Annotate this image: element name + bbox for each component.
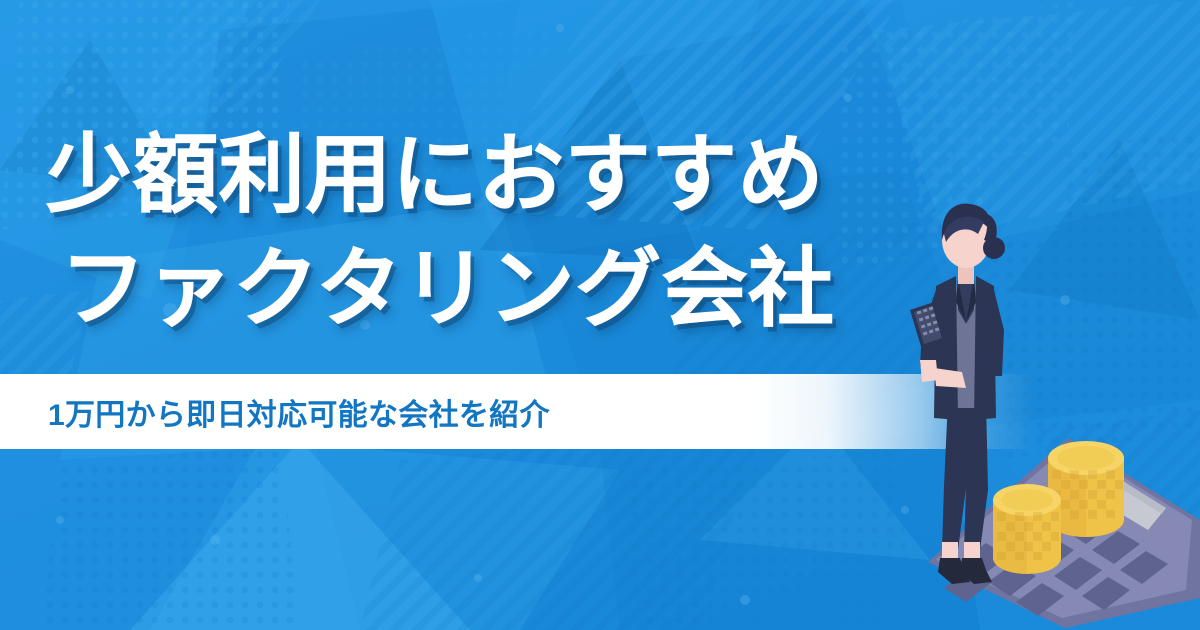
subtitle-bar: 1万円から即日対応可能な会社を紹介 (0, 374, 1035, 449)
banner-root: 少額利用におすすめ ファクタリング会社 1万円から即日対応可能な会社を紹介 (0, 0, 1200, 630)
title-line-1: 少額利用におすすめ (46, 118, 834, 232)
subtitle-text: 1万円から即日対応可能な会社を紹介 (48, 390, 550, 434)
title-line-2: ファクタリング会社 (60, 232, 834, 346)
title-block: 少額利用におすすめ ファクタリング会社 (46, 118, 834, 347)
